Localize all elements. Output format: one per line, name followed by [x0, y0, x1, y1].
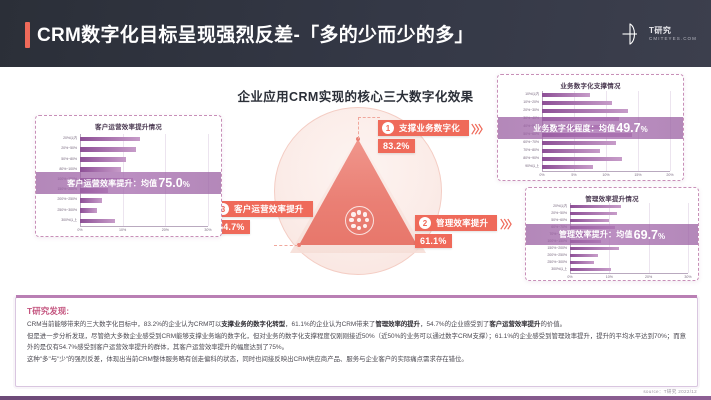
- chart-bar: [542, 101, 612, 105]
- chart-x-tick-label: 20%: [156, 228, 174, 232]
- chart-y-tick-label: 70%~80%: [523, 149, 539, 153]
- chart-bar: [570, 247, 619, 250]
- card-business-digital[interactable]: 业务数字化支撑情况 0%5%10%15%20%10%以内10%~20%20%~3…: [497, 74, 684, 181]
- chart-bar: [80, 137, 140, 142]
- chart-y-tick-label: 10%~20%: [523, 101, 539, 105]
- chart-x-tick-label: 0%: [561, 275, 579, 279]
- chart-y-tick-label: 90%以上: [525, 165, 539, 169]
- callout-label-3: 客户运营效率提升: [234, 203, 304, 215]
- chart-bar: [542, 149, 600, 153]
- chart-y-tick-label: 200%~250%: [547, 254, 567, 258]
- chart-bar: [542, 109, 628, 113]
- page-title: CRM数字化目标呈现强烈反差-「多的少而少的多」: [37, 20, 474, 47]
- chart-x-tick-label: 10%: [600, 275, 618, 279]
- findings-p1-d: 管理效率的提升: [375, 321, 420, 328]
- avg-label-customer-ops: 客户运营效率提升：均值: [67, 178, 157, 189]
- chart-bar: [542, 93, 590, 97]
- brand-logo: T研究 CMITEYES.COM: [620, 22, 697, 46]
- callout-support-business-digital[interactable]: 1 支撑业务数字化: [378, 120, 469, 136]
- leader-line-top-h: [358, 117, 380, 118]
- avg-band-business-digital: 业务数字化程度：均值49.7%: [498, 117, 683, 139]
- chart-bar: [570, 261, 594, 264]
- source-note: source：T研究 2022/12: [643, 389, 697, 395]
- findings-body: CRM当前能够带来的三大数字化目标中，83.2%的企业认为CRM可以支撑业务的数…: [27, 320, 686, 368]
- chart-y-tick-label: 60%~70%: [523, 141, 539, 145]
- findings-p1-f: 客户运营效率提升: [489, 321, 540, 328]
- stage-area: 企业应用CRM实现的核心三大数字化效果 1 支撑业务数字化 83.2% 〉〉〉: [0, 67, 711, 292]
- chart-y-tick-label: 20%~50%: [551, 212, 567, 216]
- callout-number-1: 1: [382, 122, 394, 134]
- findings-heading: T研究发现:: [27, 305, 69, 317]
- chart-bar: [570, 212, 617, 215]
- card-management-efficiency[interactable]: 管理效率提升情况 0%10%20%30%20%以内20%~50%50%~60%6…: [525, 187, 699, 281]
- footer-bar: [0, 396, 711, 400]
- chart-x-tick-label: 20%: [640, 275, 658, 279]
- chart-x-tick-label: 0%: [71, 228, 89, 232]
- chart-bar: [570, 268, 611, 271]
- chart-y-tick-label: 80%~100%: [59, 168, 77, 172]
- findings-paragraph-3: 这种"多"与"少"的强烈反差，体现出当前CRM整体服务略有创走偏科的状态，同时也…: [27, 355, 686, 365]
- logo-name-en: CMITEYES.COM: [649, 37, 697, 42]
- callout-value-2: 61.1%: [415, 234, 452, 248]
- slide-header: CRM数字化目标呈现强烈反差-「多的少而少的多」 T研究 CMITEYES.CO…: [0, 0, 711, 67]
- chart-x-axis: [80, 226, 208, 227]
- findings-paragraph-2: 但是进一步分析发现，尽管绝大多数企业感受到CRM能够支撑业务端的数字化，但对业务…: [27, 332, 686, 353]
- chart-x-tick-label: 30%: [679, 275, 697, 279]
- findings-paragraph-1: CRM当前能够带来的三大数字化目标中，83.2%的企业认为CRM可以支撑业务的数…: [27, 320, 686, 330]
- findings-p1-c: ，61.1%的企业认为CRM带来了: [285, 321, 375, 328]
- callout-number-2: 2: [419, 217, 431, 229]
- chart-x-tick-label: 5%: [565, 173, 583, 177]
- callout-value-1: 83.2%: [378, 139, 415, 153]
- chart-y-tick-label: 50%~60%: [551, 219, 567, 223]
- leader-line-top: [358, 117, 359, 139]
- chart-bar: [80, 208, 97, 213]
- logo-eye-icon: [620, 22, 644, 46]
- avg-value-management-efficiency: 69.7%: [634, 228, 665, 242]
- findings-top-rule: [16, 295, 697, 298]
- findings-p1-e: ，54.7%的企业感受到了: [420, 321, 489, 328]
- chevron-right-icon-bottom: 〉〉〉: [500, 216, 516, 232]
- chart-bar: [542, 157, 622, 161]
- chart-bar: [80, 219, 115, 224]
- chart-y-tick-label: 250%~300%: [547, 261, 567, 265]
- callout-label-1: 支撑业务数字化: [399, 122, 460, 134]
- callout-management-efficiency[interactable]: 2 管理效率提升: [415, 215, 497, 231]
- chart-y-tick-label: 20%~50%: [61, 147, 77, 151]
- chart-x-tick-label: 0%: [533, 173, 551, 177]
- callout-customer-ops-efficiency[interactable]: 3 客户运营效率提升: [213, 201, 313, 217]
- card-customer-ops[interactable]: 客户运营效率提升情况 0%10%20%30%20%以内20%~50%50%~80…: [35, 115, 222, 237]
- chart-x-tick-label: 20%: [661, 173, 679, 177]
- chart-y-tick-label: 20%以内: [63, 137, 77, 141]
- chart-y-tick-label: 300%以上: [61, 219, 77, 223]
- chart-y-tick-label: 150%~200%: [547, 247, 567, 251]
- chart-y-tick-label: 50%~80%: [61, 158, 77, 162]
- chevron-right-icon-top: 〉〉〉: [471, 121, 487, 137]
- avg-band-management-efficiency: 管理效率提升：均值69.7%: [526, 224, 698, 245]
- leader-line-left: [274, 245, 298, 246]
- findings-box: T研究发现: CRM当前能够带来的三大数字化目标中，83.2%的企业认为CRM可…: [15, 297, 698, 387]
- card-title-management-efficiency: 管理效率提升情况: [526, 193, 698, 203]
- chart-x-tick-label: 10%: [114, 228, 132, 232]
- chart-bar: [570, 219, 609, 222]
- chart-y-tick-label: 80%~90%: [523, 157, 539, 161]
- chart-bar: [80, 157, 126, 162]
- chart-y-tick-label: 20%~30%: [523, 109, 539, 113]
- chart-bar: [570, 254, 598, 257]
- logo-name-cn: T研究: [649, 27, 697, 35]
- chart-x-tick-label: 30%: [199, 228, 217, 232]
- chart-y-tick-label: 10%以内: [525, 93, 539, 97]
- chart-bar: [542, 165, 593, 169]
- network-emblem-icon: [345, 206, 374, 235]
- chart-bar: [80, 198, 102, 203]
- avg-label-business-digital: 业务数字化程度：均值: [533, 123, 615, 134]
- callout-label-2: 管理效率提升: [436, 217, 488, 229]
- findings-p1-a: CRM当前能够带来的三大数字化目标中，83.2%的企业认为CRM可以: [27, 321, 221, 328]
- chart-bar: [542, 141, 616, 145]
- avg-band-customer-ops: 客户运营效率提升：均值75.0%: [36, 172, 221, 194]
- chart-bar: [80, 147, 136, 152]
- chart-x-axis: [542, 171, 670, 172]
- avg-value-business-digital: 49.7%: [616, 121, 647, 135]
- avg-label-management-efficiency: 管理效率提升：均值: [559, 229, 633, 240]
- chart-x-axis: [570, 273, 688, 274]
- chart-bar: [570, 205, 621, 208]
- slide-root: CRM数字化目标呈现强烈反差-「多的少而少的多」 T研究 CMITEYES.CO…: [0, 0, 711, 400]
- chart-y-tick-label: 250%~300%: [57, 209, 77, 213]
- card-title-business-digital: 业务数字化支撑情况: [498, 80, 683, 90]
- findings-p1-g: 的价值。: [540, 321, 566, 328]
- chart-y-tick-label: 300%以上: [551, 268, 567, 272]
- avg-value-customer-ops: 75.0%: [158, 176, 189, 190]
- chart-x-tick-label: 15%: [629, 173, 647, 177]
- card-title-customer-ops: 客户运营效率提升情况: [36, 121, 221, 131]
- findings-p1-b: 支撑业务的数字化转型: [221, 321, 285, 328]
- logo-text: T研究 CMITEYES.COM: [649, 27, 697, 42]
- chart-x-tick-label: 10%: [597, 173, 615, 177]
- chart-y-tick-label: 200%~250%: [57, 198, 77, 202]
- title-accent-bar: [25, 22, 30, 48]
- chart-y-tick-label: 20%以内: [553, 205, 567, 209]
